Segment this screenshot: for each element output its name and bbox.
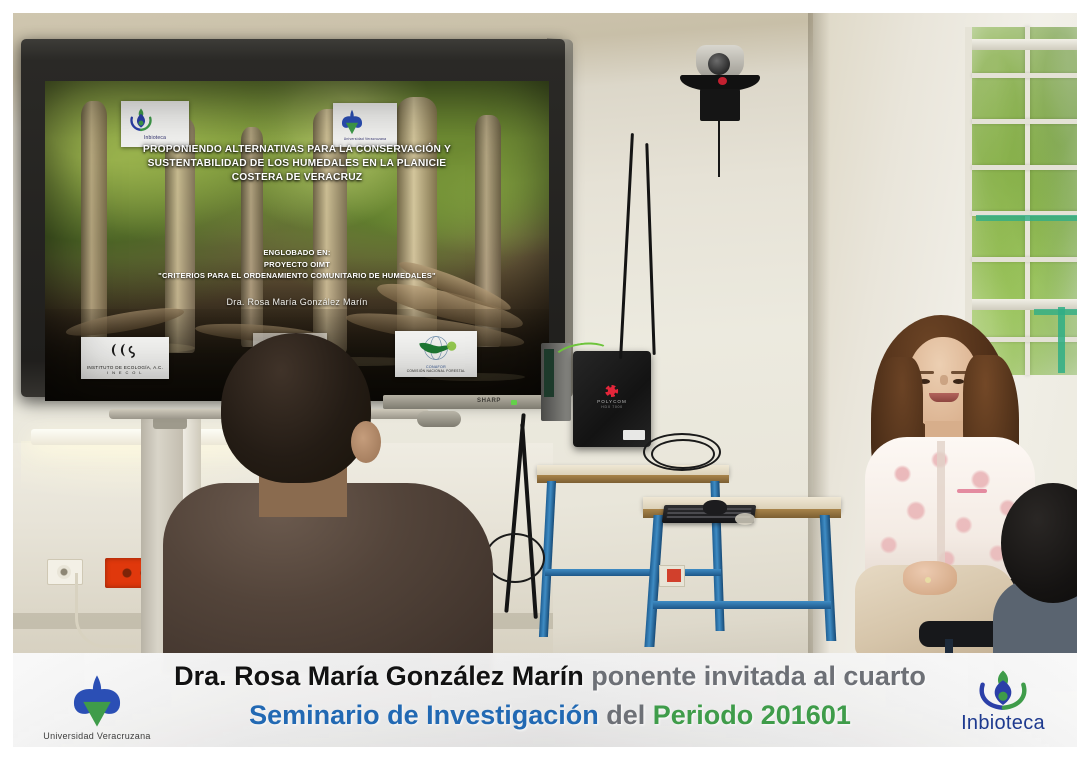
polycom-brand-label: POLYCOM bbox=[597, 399, 627, 404]
polycom-logo-icon bbox=[718, 77, 727, 85]
mousepad bbox=[735, 513, 755, 525]
window-mullion-horizontal bbox=[972, 165, 1077, 170]
audience-member-foreground bbox=[163, 333, 493, 663]
ear bbox=[351, 421, 381, 463]
inbioteca-logo: Inbioteca bbox=[943, 661, 1063, 741]
camera-cable bbox=[718, 119, 720, 177]
event-photograph: Inbioteca Universidad Veracruzana bbox=[13, 13, 1077, 747]
camera-lens-icon bbox=[708, 53, 730, 75]
caption-line-1-rest: ponente invitada al cuarto bbox=[584, 661, 926, 691]
caption-period-label: Periodo 201601 bbox=[653, 700, 851, 730]
photo-frame: Inbioteca Universidad Veracruzana bbox=[0, 0, 1090, 760]
polycom-logo-icon bbox=[605, 385, 618, 397]
caption-speaker-name: Dra. Rosa María González Marín bbox=[174, 661, 584, 691]
coiled-cable bbox=[651, 439, 715, 469]
inbioteca-flame-icon bbox=[972, 668, 1034, 712]
mouse[interactable] bbox=[703, 500, 727, 515]
camera-mount-bracket bbox=[700, 89, 740, 121]
cable-loop bbox=[485, 533, 545, 583]
fleur-de-lis-icon bbox=[65, 673, 129, 729]
nose bbox=[940, 375, 948, 385]
mouth-smile bbox=[929, 393, 959, 402]
power-cable bbox=[75, 573, 136, 648]
caption-line-2: Seminario de Investigación del Periodo 2… bbox=[123, 696, 977, 734]
equipment-table-edge bbox=[537, 475, 729, 483]
blouse-placket bbox=[937, 441, 945, 567]
audience-member-right bbox=[993, 483, 1077, 663]
head-back-of-hair bbox=[221, 333, 371, 483]
ring bbox=[925, 577, 931, 583]
red-label bbox=[667, 569, 681, 582]
window-mullion-horizontal bbox=[972, 257, 1077, 262]
table-rail bbox=[545, 569, 721, 576]
polycom-camera-assembly bbox=[678, 45, 762, 131]
caption-connector: del bbox=[599, 700, 653, 730]
polycom-asset-tag bbox=[623, 430, 645, 440]
caption-bar: Universidad Veracruzana Dra. Rosa María … bbox=[13, 653, 1077, 747]
inbioteca-logo-caption: Inbioteca bbox=[961, 712, 1045, 735]
caption-line-1: Dra. Rosa María González Marín ponente i… bbox=[123, 657, 977, 696]
window-green-frame bbox=[1058, 307, 1065, 373]
desk-rail bbox=[653, 601, 831, 609]
polycom-brand: POLYCOM HDX 7000 bbox=[597, 385, 627, 409]
window-rail bbox=[972, 39, 1077, 50]
window-green-bar bbox=[976, 215, 1077, 221]
display-power-led bbox=[511, 400, 517, 405]
caption-text: Dra. Rosa María González Marín ponente i… bbox=[123, 657, 977, 734]
window-mullion-horizontal bbox=[972, 119, 1077, 124]
window-mullion-horizontal bbox=[972, 73, 1077, 78]
caption-seminar-label: Seminario de Investigación bbox=[249, 700, 599, 730]
blouse-pocket-trim bbox=[957, 489, 987, 493]
polycom-model-label: HDX 7000 bbox=[597, 405, 627, 409]
